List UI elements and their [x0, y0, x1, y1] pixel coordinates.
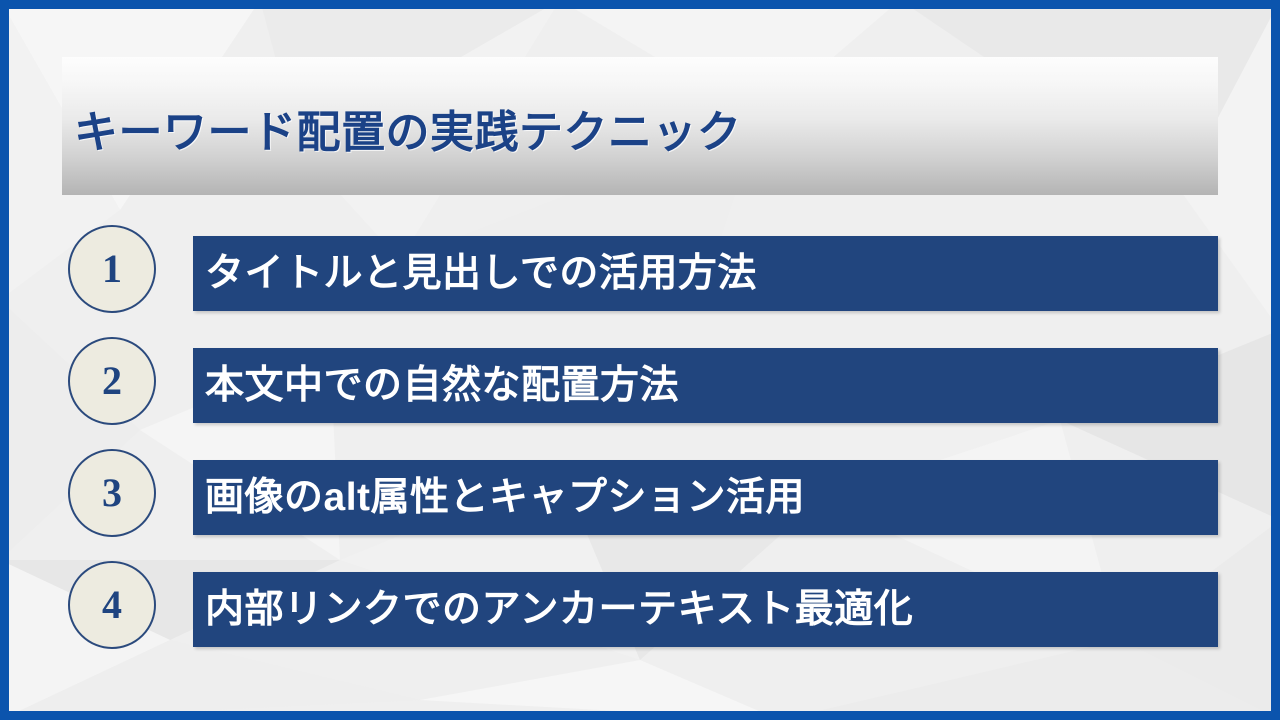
list-item-label: 本文中での自然な配置方法 — [205, 366, 679, 405]
list-item-bar[interactable]: 内部リンクでのアンカーテキスト最適化 — [193, 572, 1218, 647]
list-item-label: タイトルと見出しでの活用方法 — [205, 254, 757, 293]
frame-border-right — [1271, 0, 1280, 720]
list-item-number: 3 — [102, 473, 122, 513]
list-item-bar[interactable]: タイトルと見出しでの活用方法 — [193, 236, 1218, 311]
frame-border-bottom — [0, 711, 1280, 720]
list-item-number-badge: 3 — [68, 449, 156, 537]
list-item[interactable]: 1 タイトルと見出しでの活用方法 — [68, 225, 1218, 317]
slide-canvas: キーワード配置の実践テクニック 1 タイトルと見出しでの活用方法 2 本文中での… — [0, 0, 1280, 720]
list-item-label: 画像のalt属性とキャプション活用 — [205, 478, 805, 517]
list-item[interactable]: 3 画像のalt属性とキャプション活用 — [68, 449, 1218, 541]
list-item-number-badge: 1 — [68, 225, 156, 313]
frame-border-top — [0, 0, 1280, 9]
list-item-bar[interactable]: 画像のalt属性とキャプション活用 — [193, 460, 1218, 535]
list-item-number: 2 — [102, 361, 122, 401]
page-title: キーワード配置の実践テクニック — [74, 96, 742, 160]
list-item-bar[interactable]: 本文中での自然な配置方法 — [193, 348, 1218, 423]
list-item-number-badge: 2 — [68, 337, 156, 425]
list-item[interactable]: 4 内部リンクでのアンカーテキスト最適化 — [68, 561, 1218, 653]
list-item-number: 1 — [102, 249, 122, 289]
frame-border-left — [0, 0, 9, 720]
list-item-number-badge: 4 — [68, 561, 156, 649]
list-item-number: 4 — [102, 585, 122, 625]
list-item-label: 内部リンクでのアンカーテキスト最適化 — [205, 590, 913, 629]
list-item[interactable]: 2 本文中での自然な配置方法 — [68, 337, 1218, 429]
